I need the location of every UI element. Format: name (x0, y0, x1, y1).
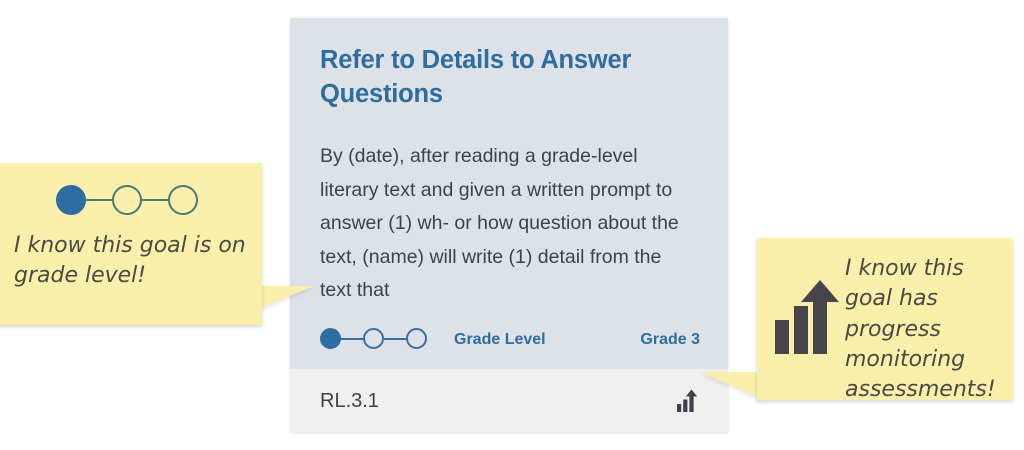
callout-right-text: I know this goal has progress monitoring… (845, 254, 1005, 406)
progress-dots-icon (320, 328, 427, 349)
goal-card-footer: RL.3.1 (290, 368, 728, 432)
progress-dots-icon (56, 185, 198, 215)
progress-connector-1 (341, 338, 363, 340)
grade-level-value: Grade 3 (530, 331, 700, 349)
callout-left-tail (260, 286, 314, 308)
bar-chart-up-icon (775, 280, 839, 354)
callout-progress-dot-2-empty (112, 185, 142, 215)
callout-right-tail (700, 372, 760, 398)
progress-dot-2-empty (363, 328, 384, 349)
callout-right: I know this goal has progress monitoring… (757, 238, 1013, 400)
callout-left-text: I know this goal is on grade level! (14, 231, 246, 292)
bar-chart-up-icon[interactable] (676, 389, 700, 413)
standard-code-label: RL.3.1 (320, 390, 379, 413)
goal-card-body: Refer to Details to Answer Questions By … (290, 18, 728, 368)
annotated-goal-card-figure: Refer to Details to Answer Questions By … (0, 0, 1024, 450)
goal-card[interactable]: Refer to Details to Answer Questions By … (290, 18, 728, 432)
callout-progress-connector-2 (142, 199, 168, 202)
callout-progress-connector-1 (86, 199, 112, 202)
callout-progress-dot-1-filled (56, 185, 86, 215)
progress-dot-3-empty (406, 328, 427, 349)
goal-card-title: Refer to Details to Answer Questions (320, 44, 700, 112)
progress-connector-2 (384, 338, 406, 340)
callout-left: I know this goal is on grade level! (0, 163, 262, 325)
callout-progress-dot-3-empty (168, 185, 198, 215)
progress-dot-1-filled (320, 328, 341, 349)
goal-card-description: By (date), after reading a grade-level l… (320, 140, 692, 308)
